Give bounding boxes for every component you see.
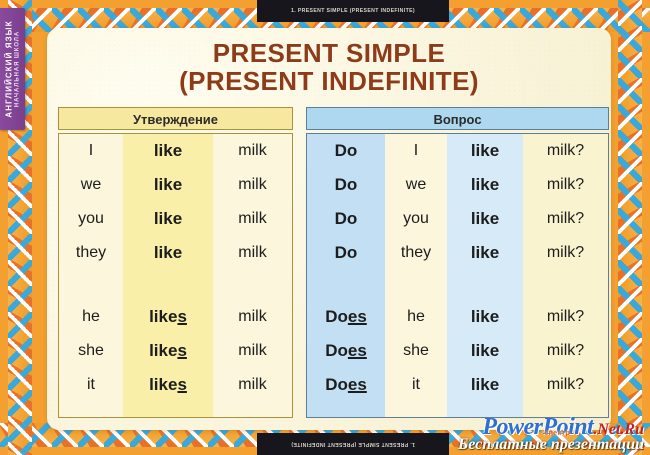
question-auxiliary-cell: Does [307,334,385,368]
affirmative-object-cell: milk [213,236,292,270]
page-title-line2: (PRESENT INDEFINITE) [47,68,611,96]
question-object-cell [523,270,608,300]
affirmative-verb-column: likelikelikelikelikeslikeslikes [123,134,213,417]
question-auxiliary-cell: Does [307,368,385,402]
question-pronoun-column: Iweyoutheyhesheit [385,134,447,417]
affirmative-verb-cell: like [123,134,213,168]
affirmative-verb-cell: like [123,202,213,236]
slide-page: PRESENT SIMPLE (PRESENT INDEFINITE) Утве… [47,28,611,430]
question-pronoun-cell: she [385,334,447,368]
bottom-title-bar: 1. PRESENT SIMPLE (PRESENT INDEFINITE) [257,433,449,455]
affirmative-verb-cell: likes [123,334,213,368]
affirmative-verb-cell: likes [123,368,213,402]
question-verb-cell: like [447,368,523,402]
subject-tab-line1: АНГЛИЙСКИЙ ЯЗЫК [5,20,14,117]
question-pronoun-cell [385,270,447,300]
question-verb-cell: like [447,300,523,334]
affirmative-pronoun-column: Iweyoutheyhesheit [59,134,123,417]
question-pronoun-cell: we [385,168,447,202]
spektr-logo: спектр [544,430,570,437]
affirmative-pronoun-cell: we [59,168,123,202]
question-object-cell: milk? [523,202,608,236]
question-object-column: milk?milk?milk?milk?milk?milk?milk? [523,134,608,417]
affirmative-pronoun-cell [59,270,123,300]
watermark-tagline: Бесплатные презентации [458,437,644,453]
slide-root: 1. PRESENT SIMPLE (PRESENT INDEFINITE) 1… [0,0,650,455]
watermark: спектр PowerPoint.Net.Ru Бесплатные през… [458,415,644,453]
question-table: Вопрос DoDoDoDoDoesDoesDoes Iweyoutheyhe… [306,107,609,418]
affirmative-pronoun-cell: I [59,134,123,168]
question-pronoun-cell: they [385,236,447,270]
question-object-cell: milk? [523,300,608,334]
affirmative-verb-cell: like [123,236,213,270]
question-object-cell: milk? [523,368,608,402]
page-title: PRESENT SIMPLE (PRESENT INDEFINITE) [47,40,611,96]
affirmative-object-cell: milk [213,300,292,334]
question-auxiliary-cell: Do [307,134,385,168]
question-verb-cell [447,270,523,300]
page-title-line1: PRESENT SIMPLE [47,40,611,68]
subject-tab: АНГЛИЙСКИЙ ЯЗЫК НАЧАЛЬНАЯ ШКОЛА [0,8,25,130]
affirmative-verb-cell: likes [123,300,213,334]
affirmative-object-cell: milk [213,202,292,236]
question-verb-cell: like [447,134,523,168]
affirmative-object-cell: milk [213,134,292,168]
subject-tab-text: АНГЛИЙСКИЙ ЯЗЫК НАЧАЛЬНАЯ ШКОЛА [5,20,21,117]
question-verb-cell: like [447,236,523,270]
affirmative-pronoun-cell: she [59,334,123,368]
affirmative-verb-cell [123,270,213,300]
affirmative-object-cell: milk [213,168,292,202]
affirmative-pronoun-cell: you [59,202,123,236]
affirmative-object-column: milkmilkmilkmilkmilkmilkmilk [213,134,292,417]
question-object-cell: milk? [523,334,608,368]
question-verb-cell: like [447,168,523,202]
affirmative-object-cell: milk [213,334,292,368]
affirmative-verb-cell: like [123,168,213,202]
affirmative-object-cell: milk [213,368,292,402]
affirmative-object-cell [213,270,292,300]
question-auxiliary-cell: Does [307,300,385,334]
zigzag-border-right-icon [618,0,642,455]
question-table-header: Вопрос [306,107,609,130]
question-auxiliary-column: DoDoDoDoDoesDoesDoes [307,134,385,417]
affirmative-table-header: Утверждение [58,107,293,130]
question-pronoun-cell: I [385,134,447,168]
question-pronoun-cell: you [385,202,447,236]
question-object-cell: milk? [523,134,608,168]
question-verb-column: likelikelikelikelikelikelike [447,134,523,417]
top-title-bar: 1. PRESENT SIMPLE (PRESENT INDEFINITE) [257,0,449,22]
question-auxiliary-cell [307,270,385,300]
affirmative-pronoun-cell: it [59,368,123,402]
question-auxiliary-cell: Do [307,168,385,202]
question-auxiliary-cell: Do [307,236,385,270]
question-verb-cell: like [447,202,523,236]
question-table-body: DoDoDoDoDoesDoesDoes Iweyoutheyhesheit l… [306,133,609,418]
question-object-cell: milk? [523,168,608,202]
affirmative-pronoun-cell: they [59,236,123,270]
question-verb-cell: like [447,334,523,368]
tables-container: Утверждение Iweyoutheyhesheit likelikeli… [58,107,600,418]
affirmative-table-body: Iweyoutheyhesheit likelikelikelikelikesl… [58,133,293,418]
question-pronoun-cell: he [385,300,447,334]
question-object-cell: milk? [523,236,608,270]
subject-tab-line2: НАЧАЛЬНАЯ ШКОЛА [15,20,21,117]
question-pronoun-cell: it [385,368,447,402]
question-auxiliary-cell: Do [307,202,385,236]
affirmative-table: Утверждение Iweyoutheyhesheit likelikeli… [58,107,293,418]
affirmative-pronoun-cell: he [59,300,123,334]
